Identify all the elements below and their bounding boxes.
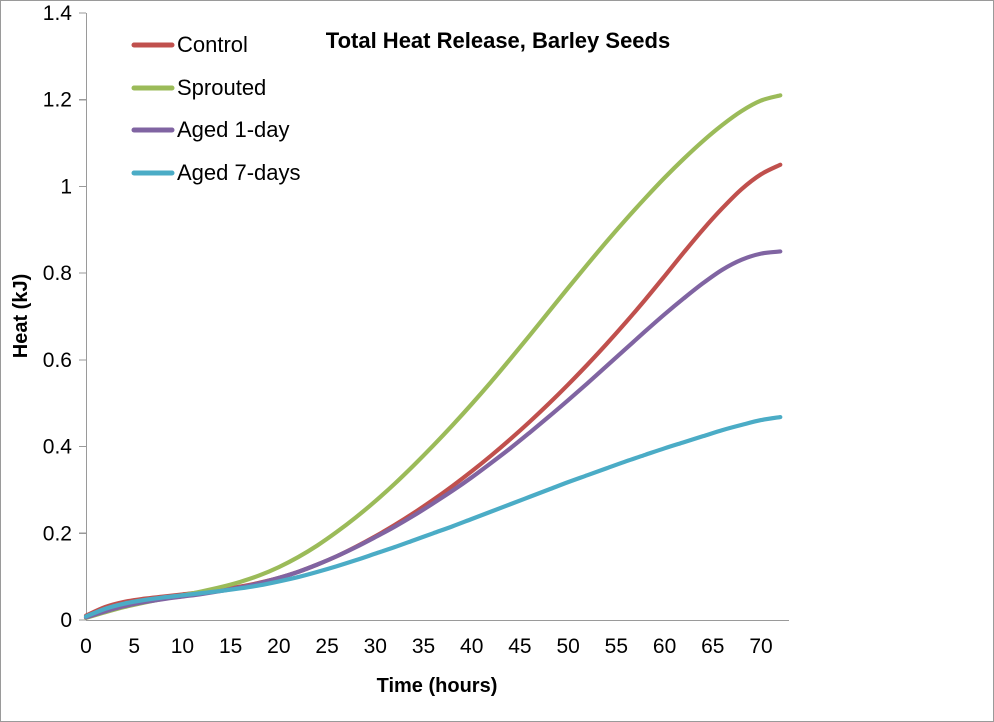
x-axis-title: Time (hours) — [377, 675, 498, 697]
x-axis-group: 0510152025303540455055606570 — [80, 621, 789, 659]
x-tick-label: 25 — [315, 635, 338, 658]
x-tick-label: 40 — [460, 635, 483, 658]
y-axis-title: Heat (kJ) — [10, 274, 32, 358]
x-tick-label: 10 — [171, 635, 194, 658]
y-tick-label: 1.4 — [43, 2, 73, 25]
x-tick-label: 60 — [653, 635, 676, 658]
chart-legend: ControlSproutedAged 1-dayAged 7-days — [134, 32, 301, 185]
y-axis-group: 00.20.40.60.811.21.4 — [43, 2, 87, 632]
x-tick-label: 5 — [128, 635, 140, 658]
y-tick-label: 0.6 — [43, 349, 72, 372]
legend-label-sprouted: Sprouted — [177, 75, 266, 100]
y-tick-label: 0.8 — [43, 262, 72, 285]
x-tick-label: 15 — [219, 635, 242, 658]
x-tick-label: 50 — [556, 635, 579, 658]
line-chart: 00.20.40.60.811.21.4 0510152025303540455… — [1, 1, 994, 722]
x-tick-labels: 0510152025303540455055606570 — [80, 635, 773, 658]
y-tick-label: 0 — [60, 609, 72, 632]
y-tick-labels: 00.20.40.60.811.21.4 — [43, 2, 73, 632]
y-tick-label: 0.2 — [43, 522, 72, 545]
x-tick-label: 45 — [508, 635, 531, 658]
y-tick-label: 1 — [60, 175, 72, 198]
x-tick-label: 0 — [80, 635, 92, 658]
x-tick-label: 20 — [267, 635, 290, 658]
legend-label-control: Control — [177, 32, 248, 57]
y-tick-label: 1.2 — [43, 89, 72, 112]
x-tick-label: 35 — [412, 635, 435, 658]
y-tick-marks — [79, 13, 86, 620]
legend-label-aged-7-days: Aged 7-days — [177, 160, 301, 185]
chart-title: Total Heat Release, Barley Seeds — [326, 28, 670, 53]
x-tick-label: 65 — [701, 635, 724, 658]
x-tick-label: 55 — [605, 635, 628, 658]
x-tick-label: 30 — [364, 635, 387, 658]
series-line-control — [86, 165, 780, 616]
y-tick-label: 0.4 — [43, 436, 73, 459]
series-line-aged-1-day — [86, 251, 780, 617]
legend-label-aged-1-day: Aged 1-day — [177, 117, 290, 142]
chart-container: 00.20.40.60.811.21.4 0510152025303540455… — [0, 0, 994, 722]
x-tick-label: 70 — [749, 635, 772, 658]
